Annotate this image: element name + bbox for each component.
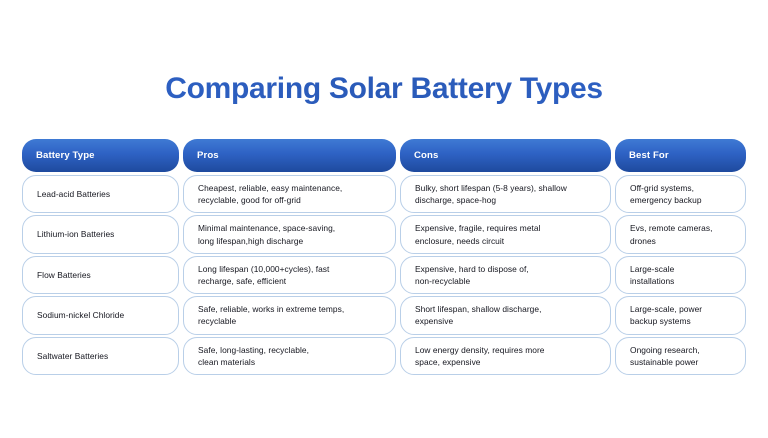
cell-best-for: Off-grid systems, emergency backup xyxy=(615,175,746,213)
table-row: Flow Batteries Long lifespan (10,000+cyc… xyxy=(22,256,746,294)
cell-battery-type: Saltwater Batteries xyxy=(22,337,179,375)
cell-text: Expensive, hard to dispose of, non-recyc… xyxy=(415,263,529,287)
cell-text: Short lifespan, shallow discharge, expen… xyxy=(415,303,541,327)
cell-text: Evs, remote cameras, drones xyxy=(630,222,712,246)
page-title: Comparing Solar Battery Types xyxy=(0,72,768,105)
column-header-label: Best For xyxy=(629,150,669,161)
cell-text: Large-scale, power backup systems xyxy=(630,303,702,327)
cell-text: Minimal maintenance, space-saving, long … xyxy=(198,222,335,246)
cell-text: Expensive, fragile, requires metal enclo… xyxy=(415,222,541,246)
table-row: Saltwater Batteries Safe, long-lasting, … xyxy=(22,337,746,375)
cell-cons: Low energy density, requires more space,… xyxy=(400,337,611,375)
infographic-page: Comparing Solar Battery Types Battery Ty… xyxy=(0,0,768,438)
cell-pros: Cheapest, reliable, easy maintenance, re… xyxy=(183,175,396,213)
cell-text: Safe, long-lasting, recyclable, clean ma… xyxy=(198,344,309,368)
table-row: Sodium-nickel Chloride Safe, reliable, w… xyxy=(22,296,746,334)
column-header-label: Battery Type xyxy=(36,150,95,161)
cell-text: Large-scale installations xyxy=(630,263,674,287)
cell-pros: Safe, long-lasting, recyclable, clean ma… xyxy=(183,337,396,375)
cell-cons: Expensive, hard to dispose of, non-recyc… xyxy=(400,256,611,294)
cell-pros: Long lifespan (10,000+cycles), fast rech… xyxy=(183,256,396,294)
cell-pros: Minimal maintenance, space-saving, long … xyxy=(183,215,396,253)
cell-battery-type: Lithium-ion Batteries xyxy=(22,215,179,253)
cell-text: Bulky, short lifespan (5-8 years), shall… xyxy=(415,182,567,206)
cell-text: Lead-acid Batteries xyxy=(37,188,110,200)
cell-text: Low energy density, requires more space,… xyxy=(415,344,545,368)
column-header-battery-type: Battery Type xyxy=(22,139,179,172)
cell-text: Sodium-nickel Chloride xyxy=(37,309,124,321)
table-row: Lithium-ion Batteries Minimal maintenanc… xyxy=(22,215,746,253)
cell-battery-type: Lead-acid Batteries xyxy=(22,175,179,213)
cell-best-for: Large-scale, power backup systems xyxy=(615,296,746,334)
cell-cons: Expensive, fragile, requires metal enclo… xyxy=(400,215,611,253)
cell-text: Flow Batteries xyxy=(37,269,91,281)
cell-best-for: Ongoing research, sustainable power xyxy=(615,337,746,375)
cell-text: Long lifespan (10,000+cycles), fast rech… xyxy=(198,263,329,287)
cell-cons: Short lifespan, shallow discharge, expen… xyxy=(400,296,611,334)
table-row: Lead-acid Batteries Cheapest, reliable, … xyxy=(22,175,746,213)
table-header-row: Battery Type Pros Cons Best For xyxy=(22,139,746,172)
cell-cons: Bulky, short lifespan (5-8 years), shall… xyxy=(400,175,611,213)
cell-text: Off-grid systems, emergency backup xyxy=(630,182,702,206)
cell-battery-type: Flow Batteries xyxy=(22,256,179,294)
column-header-label: Pros xyxy=(197,150,219,161)
cell-text: Saltwater Batteries xyxy=(37,350,108,362)
column-header-label: Cons xyxy=(414,150,438,161)
cell-text: Safe, reliable, works in extreme temps, … xyxy=(198,303,344,327)
cell-text: Cheapest, reliable, easy maintenance, re… xyxy=(198,182,342,206)
cell-best-for: Large-scale installations xyxy=(615,256,746,294)
cell-pros: Safe, reliable, works in extreme temps, … xyxy=(183,296,396,334)
column-header-cons: Cons xyxy=(400,139,611,172)
cell-battery-type: Sodium-nickel Chloride xyxy=(22,296,179,334)
battery-comparison-table: Battery Type Pros Cons Best For Lead-aci… xyxy=(22,139,746,377)
column-header-best-for: Best For xyxy=(615,139,746,172)
column-header-pros: Pros xyxy=(183,139,396,172)
cell-best-for: Evs, remote cameras, drones xyxy=(615,215,746,253)
cell-text: Lithium-ion Batteries xyxy=(37,228,114,240)
cell-text: Ongoing research, sustainable power xyxy=(630,344,700,368)
